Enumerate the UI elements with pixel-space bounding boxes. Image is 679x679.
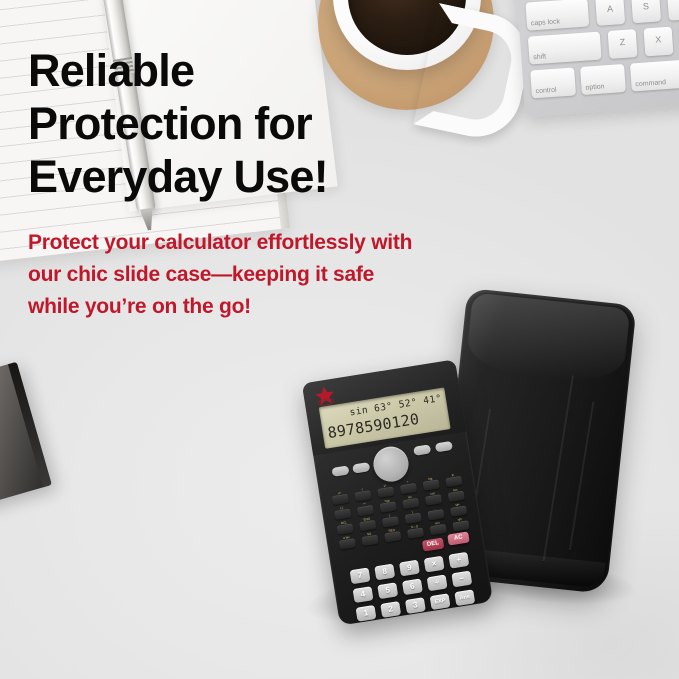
calc-key-[interactable] xyxy=(427,509,444,520)
keyboard-key-label: A xyxy=(596,3,625,15)
calc-key-[interactable] xyxy=(382,516,399,527)
calc-key-ncr[interactable] xyxy=(430,524,447,535)
apple-keyboard: caps lockASDshiftZXCcontroloptioncommand xyxy=(515,0,679,117)
calc-key-sin[interactable] xyxy=(402,498,419,509)
calc-key-cos[interactable] xyxy=(425,494,442,505)
keyboard-key-control[interactable]: control xyxy=(530,67,576,98)
calc-key-[interactable] xyxy=(334,509,351,520)
slide-case-ridge xyxy=(543,375,574,561)
calc-key-ans[interactable]: Ans xyxy=(454,589,475,606)
calc-key-2[interactable]: 2 xyxy=(380,601,401,618)
page-title: Reliable Protection for Everyday Use! xyxy=(28,44,448,203)
keyboard-key-label: control xyxy=(535,87,556,95)
calc-key-8[interactable]: 8 xyxy=(374,564,395,581)
keyboard-key-label: caps lock xyxy=(531,18,561,27)
calc-key-[interactable] xyxy=(400,483,417,494)
keyboard-key-z[interactable]: Z xyxy=(608,29,638,59)
calc-key-tan[interactable] xyxy=(448,491,465,502)
keyboard-key-label: shift xyxy=(533,53,546,61)
calc-key-5[interactable]: 5 xyxy=(377,582,398,599)
calc-key-4[interactable]: 4 xyxy=(353,586,374,603)
calc-key-npr[interactable] xyxy=(452,520,469,531)
calc-key-ln[interactable] xyxy=(445,476,462,487)
calc-key-on[interactable] xyxy=(435,441,453,453)
calc-key-alpha[interactable] xyxy=(352,462,370,474)
calc-key-log[interactable] xyxy=(423,479,440,490)
calc-dpad[interactable] xyxy=(371,444,411,484)
calc-key-[interactable] xyxy=(357,505,374,516)
product-marketing-image: caps lockASDshiftZXCcontroloptioncommand… xyxy=(0,0,679,679)
calc-key-sd[interactable] xyxy=(362,535,379,546)
calc-key-ac[interactable]: AC xyxy=(447,531,469,545)
calc-key-[interactable]: ÷ xyxy=(427,575,448,592)
keyboard-key-command[interactable]: command xyxy=(630,60,679,92)
calc-key-abc[interactable] xyxy=(339,538,356,549)
calc-key-x[interactable] xyxy=(332,494,349,505)
calculator-keypad[interactable]: x³√x²^logln(-)°′″hypsincostanRCLENG(),M+… xyxy=(313,430,493,625)
keyboard-key-label: Z xyxy=(608,36,637,48)
keyboard-key-label: option xyxy=(585,83,605,91)
keyboard-key-label: D xyxy=(668,0,679,10)
keyboard-key-shift[interactable]: shift xyxy=(528,32,602,65)
calc-key-[interactable]: + xyxy=(448,552,469,569)
calc-key-[interactable]: × xyxy=(424,556,445,573)
calc-key-m[interactable] xyxy=(450,505,467,516)
calc-key-x[interactable] xyxy=(377,487,394,498)
calc-key-del[interactable]: DEL xyxy=(422,537,444,551)
keyboard-key-label: command xyxy=(635,79,666,88)
calc-key-sd[interactable] xyxy=(407,527,424,538)
calc-key-[interactable] xyxy=(355,490,372,501)
keyboard-key-d[interactable]: D xyxy=(667,0,679,21)
calc-key-9[interactable]: 9 xyxy=(399,560,420,577)
calc-key-mode[interactable] xyxy=(413,444,431,456)
calc-key-1[interactable]: 1 xyxy=(356,605,377,622)
calc-key-hyp[interactable] xyxy=(380,501,397,512)
calc-key-7[interactable]: 7 xyxy=(350,567,371,584)
calc-key-[interactable] xyxy=(405,513,422,524)
calc-key-shift[interactable] xyxy=(331,465,349,477)
calc-key-exp[interactable]: EXP xyxy=(430,593,451,610)
calc-key-6[interactable]: 6 xyxy=(402,578,423,595)
subheading: Protect your calculator effortlessly wit… xyxy=(28,227,498,323)
calc-key-eng[interactable] xyxy=(359,520,376,531)
slide-case-ridge xyxy=(569,402,594,550)
calc-key-[interactable]: − xyxy=(451,571,472,588)
calc-key-rcl[interactable] xyxy=(336,523,353,534)
keyboard-key-s[interactable]: S xyxy=(631,0,661,23)
keyboard-key-x[interactable]: X xyxy=(644,27,674,57)
keyboard-key-label: X xyxy=(644,34,673,46)
keyboard-key-option[interactable]: option xyxy=(580,64,626,95)
keyboard-key-a[interactable]: A xyxy=(595,0,625,26)
keyboard-key-label: S xyxy=(632,0,661,12)
calc-key-reg[interactable] xyxy=(384,531,401,542)
keyboard-key-caps-lock[interactable]: caps lock xyxy=(525,0,589,31)
calc-key-3[interactable]: 3 xyxy=(405,597,426,614)
